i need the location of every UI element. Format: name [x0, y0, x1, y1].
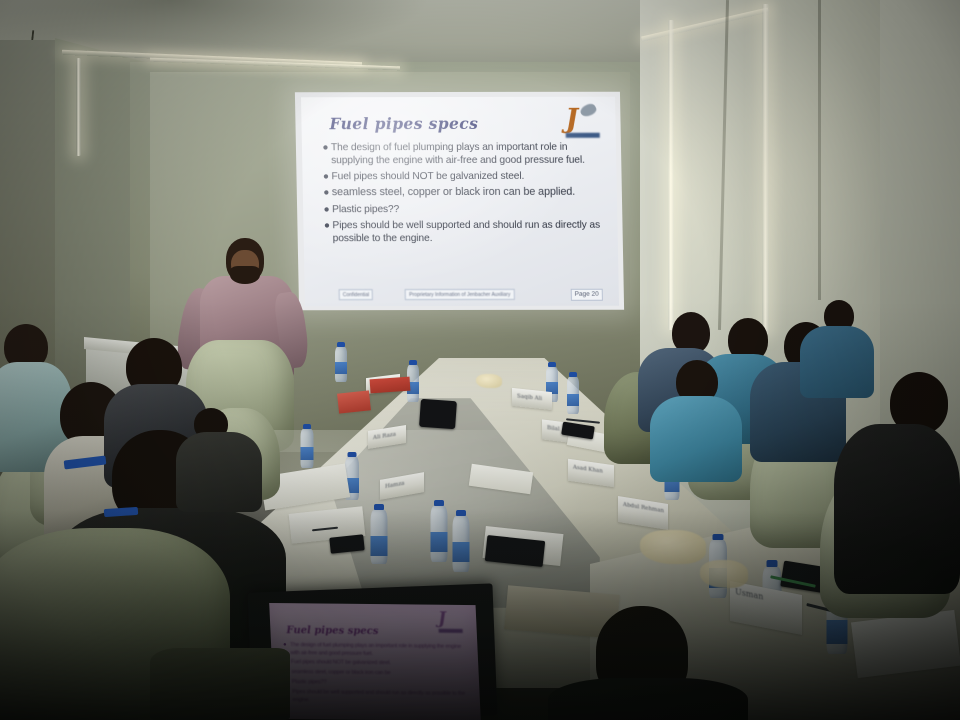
- snack-packet: [640, 530, 706, 564]
- laptop-bullet-text: Plastic pipes??: [292, 678, 472, 688]
- red-box: [337, 390, 371, 413]
- attendee-body: [176, 432, 262, 512]
- laptop-bullet-text: seamless steel, copper or black iron can…: [291, 668, 471, 678]
- bullet-dot-icon: ●: [320, 141, 331, 155]
- slide-page-number: Page 20: [570, 288, 602, 300]
- conference-room-photo: J Fuel pipes specs ● The design of fuel …: [0, 0, 960, 720]
- company-logo: J: [563, 105, 602, 139]
- laptop-slide-title: Fuel pipes specs: [286, 625, 378, 637]
- wall-led-strip-2: [762, 4, 769, 334]
- laptop-bullet-list: ● The design of fuel plumping plays an i…: [283, 641, 472, 707]
- laptop-bullet-text: Pipes should be well supported and shoul…: [292, 688, 472, 706]
- bullet-dot-icon: ●: [321, 219, 332, 233]
- name-card-label: Abdul Rehman: [623, 502, 664, 515]
- water-bottle[interactable]: [300, 424, 314, 468]
- name-card-label: Saqib Ali: [517, 393, 542, 402]
- slide-footer-left: Confidential: [339, 289, 374, 300]
- chair-armrest: [150, 648, 290, 720]
- bullet-dot-icon: ●: [320, 170, 331, 184]
- slide-bullet-text: seamless steel, copper or black iron can…: [332, 186, 603, 199]
- logo-wordmark: [566, 133, 600, 138]
- red-folder: [370, 377, 411, 394]
- slide-footer-center: Proprietary Information of Jenbacher Aux…: [405, 289, 514, 300]
- slide-bullet-text: Fuel pipes should NOT be galvanized stee…: [331, 169, 602, 182]
- name-card-label: Hamza: [385, 481, 404, 490]
- attendee-body: [800, 326, 874, 398]
- snack-packet: [476, 374, 502, 388]
- projection-screen: J Fuel pipes specs ● The design of fuel …: [295, 92, 624, 311]
- water-bottle[interactable]: [430, 500, 448, 562]
- list-item: ● Plastic pipes??: [321, 202, 603, 216]
- laptop-bullet-text: Fuel pipes should NOT be galvanized stee…: [291, 658, 471, 668]
- attendee-body: [650, 396, 742, 482]
- name-card-label: Ali Raza: [373, 432, 396, 442]
- laptop-company-logo: J: [438, 611, 465, 633]
- bullet-dot-icon: ●: [321, 203, 332, 217]
- laptop-bullet-text: The design of fuel plumping plays an imp…: [290, 641, 470, 659]
- presentation-slide: J Fuel pipes specs ● The design of fuel …: [301, 97, 619, 307]
- wall-led-strip-1: [668, 20, 674, 330]
- laptop-screen: J Fuel pipes specs ● The design of fuel …: [269, 603, 481, 720]
- attendee-body: [834, 424, 960, 594]
- list-item: ● Pipes should be well supported and sho…: [321, 219, 604, 245]
- snack-packet: [700, 560, 748, 588]
- wall-panel-seam-2: [818, 0, 821, 300]
- slide-bullet-text: Plastic pipes??: [332, 202, 603, 215]
- bullet-dot-icon: ●: [321, 186, 332, 200]
- name-card-label: Usman: [735, 587, 763, 602]
- logo-wordmark: [439, 629, 463, 633]
- name-card-label: Bilal: [547, 425, 560, 433]
- water-bottle[interactable]: [370, 504, 388, 564]
- slide-footer: Confidential Proprietary Information of …: [315, 288, 611, 302]
- logo-swoosh-icon: [579, 102, 598, 119]
- logo-mark-icon: J: [565, 106, 578, 133]
- logo-mark-icon: J: [438, 611, 447, 628]
- camera-device[interactable]: [419, 399, 457, 429]
- water-bottle[interactable]: [566, 372, 579, 414]
- presenter-beard: [230, 266, 260, 284]
- list-item: ● Pipes should be well supported and sho…: [285, 688, 472, 706]
- name-card-label: Asad Khan: [573, 464, 603, 474]
- attendee-body: [548, 678, 748, 720]
- slide-bullet-text: Pipes should be well supported and shoul…: [332, 219, 604, 245]
- list-item: ● The design of fuel plumping plays an i…: [283, 641, 470, 659]
- slide-title: Fuel pipes specs: [329, 114, 478, 133]
- water-bottle[interactable]: [334, 342, 347, 382]
- slide-bullet-text: The design of fuel plumping plays an imp…: [331, 141, 603, 167]
- list-item: ● Fuel pipes should NOT be galvanized st…: [320, 169, 602, 183]
- list-item: ● The design of fuel plumping plays an i…: [320, 141, 603, 167]
- water-bottle[interactable]: [452, 510, 470, 572]
- wall-led-strip-corner: [76, 58, 81, 156]
- slide-bullet-list: ● The design of fuel plumping plays an i…: [320, 141, 604, 248]
- list-item: ● seamless steel, copper or black iron c…: [321, 186, 603, 200]
